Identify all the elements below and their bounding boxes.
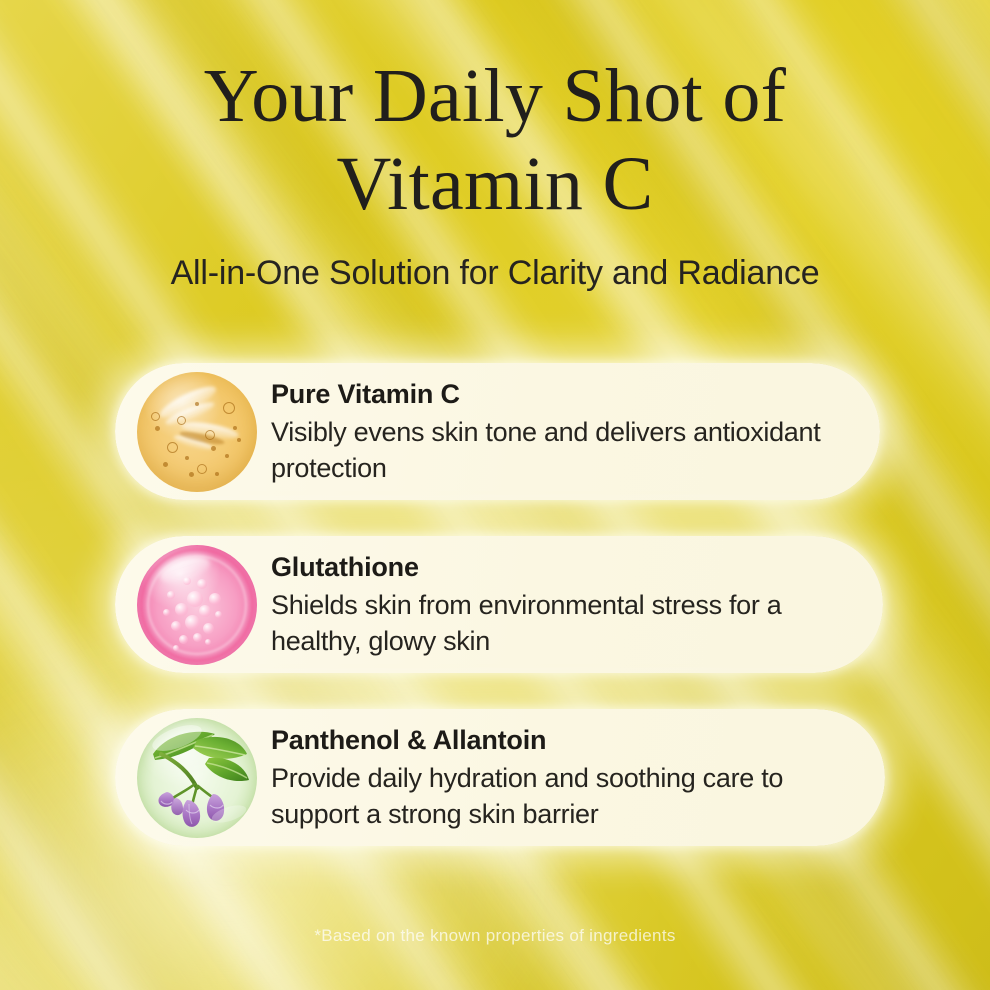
card-description: Provide daily hydration and soothing car… bbox=[271, 760, 859, 832]
swatch-container bbox=[137, 545, 257, 665]
swatch-container bbox=[137, 372, 257, 492]
page-title: Your Daily Shot of Vitamin C bbox=[0, 52, 990, 228]
benefit-card-pure-vitamin-c: Pure Vitamin C Visibly evens skin tone a… bbox=[115, 363, 880, 500]
page-title-line-2: Vitamin C bbox=[337, 142, 654, 226]
benefit-card-glutathione: Glutathione Shields skin from environmen… bbox=[115, 536, 883, 673]
header: Your Daily Shot of Vitamin C All-in-One … bbox=[0, 52, 990, 294]
comfrey-plant-swatch bbox=[137, 718, 257, 838]
footer: *Based on the known properties of ingred… bbox=[0, 925, 990, 947]
footnote-disclaimer: *Based on the known properties of ingred… bbox=[0, 925, 990, 947]
page-title-line-1: Your Daily Shot of bbox=[204, 54, 787, 138]
vitamin-c-gel-swatch bbox=[137, 372, 257, 492]
card-title: Panthenol & Allantoin bbox=[271, 724, 859, 757]
card-text: Panthenol & Allantoin Provide daily hydr… bbox=[271, 724, 885, 832]
card-description: Shields skin from environmental stress f… bbox=[271, 587, 857, 659]
card-text: Pure Vitamin C Visibly evens skin tone a… bbox=[271, 378, 880, 486]
card-description: Visibly evens skin tone and delivers ant… bbox=[271, 414, 854, 486]
swatch-container bbox=[137, 718, 257, 838]
page-subtitle: All-in-One Solution for Clarity and Radi… bbox=[0, 252, 990, 294]
card-text: Glutathione Shields skin from environmen… bbox=[271, 551, 883, 659]
vitamin-c-product-infographic: Your Daily Shot of Vitamin C All-in-One … bbox=[0, 0, 990, 990]
glutathione-droplet-swatch bbox=[137, 545, 257, 665]
card-title: Pure Vitamin C bbox=[271, 378, 854, 411]
benefit-card-panthenol-allantoin: Panthenol & Allantoin Provide daily hydr… bbox=[115, 709, 885, 846]
card-title: Glutathione bbox=[271, 551, 857, 584]
benefit-card-list: Pure Vitamin C Visibly evens skin tone a… bbox=[0, 363, 990, 882]
